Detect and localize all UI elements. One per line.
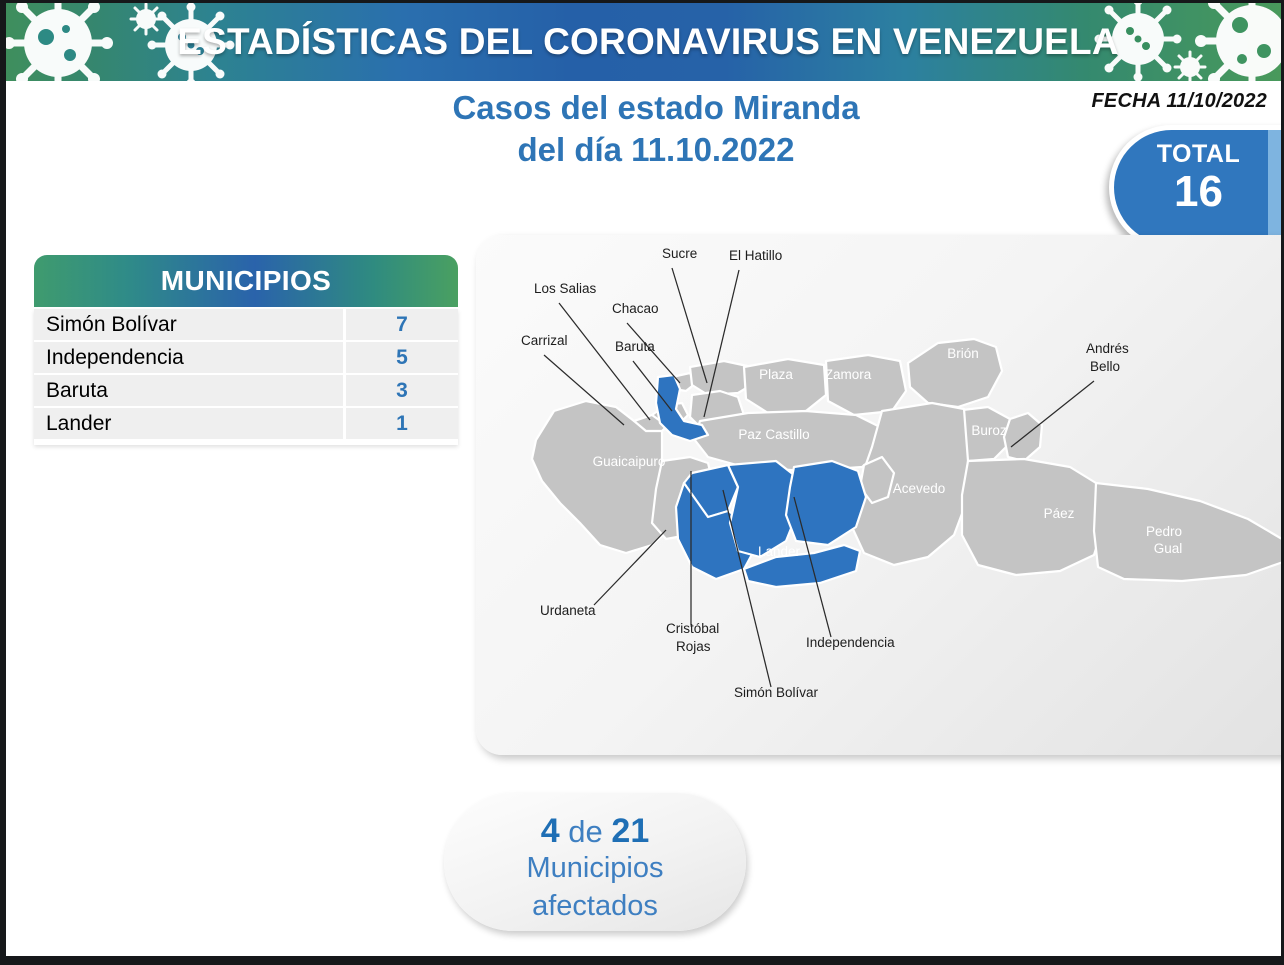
municipio-count: 7 (346, 309, 458, 340)
map-callout-label: Los Salias (534, 281, 597, 296)
header-banner: ESTADÍSTICAS DEL CORONAVIRUS EN VENEZUEL… (6, 3, 1284, 81)
map-leader-line (559, 303, 650, 420)
table-row: Lander 1 (34, 408, 458, 439)
municipio-count: 1 (346, 408, 458, 439)
municipio-count: 5 (346, 342, 458, 373)
total-badge: TOTAL 16 (1109, 125, 1284, 250)
miranda-map: PlazaZamoraBriónBurozAcevedoPáezPedroGua… (476, 235, 1284, 755)
map-callout-label: Simón Bolívar (734, 685, 819, 700)
municipios-table-header: MUNICIPIOS (34, 255, 458, 307)
fecha-label: FECHA 11/10/2022 (1091, 90, 1267, 113)
municipios-table: MUNICIPIOS Simón Bolívar 7 Independencia… (34, 255, 458, 445)
map-region-label: Guaicaipuro (593, 454, 666, 469)
total-value: 16 (1114, 169, 1283, 215)
miranda-map-panel: PlazaZamoraBriónBurozAcevedoPáezPedroGua… (476, 235, 1284, 755)
map-region-label: Plaza (759, 367, 793, 382)
map-callout-label: Bello (1090, 359, 1120, 374)
table-row: Simón Bolívar 7 (34, 309, 458, 340)
map-region-label: Gual (1154, 541, 1183, 556)
map-callout-label: Independencia (806, 635, 895, 650)
map-callout-label: Chacao (612, 301, 659, 316)
affected-municipios-summary: 4 de 21 Municipios afectados (444, 793, 746, 931)
affected-count: 4 (541, 812, 560, 850)
municipio-name: Independencia (34, 342, 343, 373)
map-callout-label: Andrés (1086, 341, 1129, 356)
map-callout-label: Sucre (662, 246, 697, 261)
municipio-name: Baruta (34, 375, 343, 406)
map-callout-label: Cristóbal (666, 621, 719, 636)
map-callout-label: Baruta (615, 339, 655, 354)
banner-title: ESTADÍSTICAS DEL CORONAVIRUS EN VENEZUEL… (6, 3, 1284, 81)
total-label: TOTAL (1114, 140, 1283, 169)
page-title: Casos del estado Miranda del día 11.10.2… (306, 87, 1006, 171)
map-region-label: Buroz (971, 423, 1007, 438)
map-callout-label: Urdaneta (540, 603, 596, 618)
map-region-label: Lander (758, 544, 801, 559)
region-pedro-gual (1094, 483, 1284, 581)
affected-caption-1: Municipios (444, 850, 746, 887)
table-row: Baruta 3 (34, 375, 458, 406)
slide-root: ESTADÍSTICAS DEL CORONAVIRUS EN VENEZUEL… (0, 0, 1284, 965)
municipio-name: Lander (34, 408, 343, 439)
total-municipios: 21 (611, 812, 649, 850)
map-callout-label: Rojas (676, 639, 711, 654)
municipio-count: 3 (346, 375, 458, 406)
region-zamora (826, 355, 906, 415)
municipio-name: Simón Bolívar (34, 309, 343, 340)
affected-caption-2: afectados (444, 888, 746, 925)
map-region-label: Páez (1044, 506, 1075, 521)
affected-ratio: 4 de 21 (444, 813, 746, 850)
map-leader-line (672, 268, 707, 383)
ratio-separator: de (568, 814, 602, 849)
page-title-line1: Casos del estado Miranda (452, 89, 859, 126)
map-region-label: Paz Castillo (738, 427, 809, 442)
map-region-label: Brión (947, 346, 979, 361)
region-paez (962, 459, 1104, 575)
map-region-label: Zamora (825, 367, 872, 382)
map-callout-label: Carrizal (521, 333, 568, 348)
page-title-line2: del día 11.10.2022 (306, 129, 1006, 171)
municipios-table-body: Simón Bolívar 7 Independencia 5 Baruta 3… (34, 309, 458, 445)
map-region-label: Acevedo (893, 481, 946, 496)
map-region-label: Pedro (1146, 524, 1182, 539)
total-badge-edge-strip (1268, 130, 1284, 245)
map-callout-label: El Hatillo (729, 248, 782, 263)
table-row: Independencia 5 (34, 342, 458, 373)
